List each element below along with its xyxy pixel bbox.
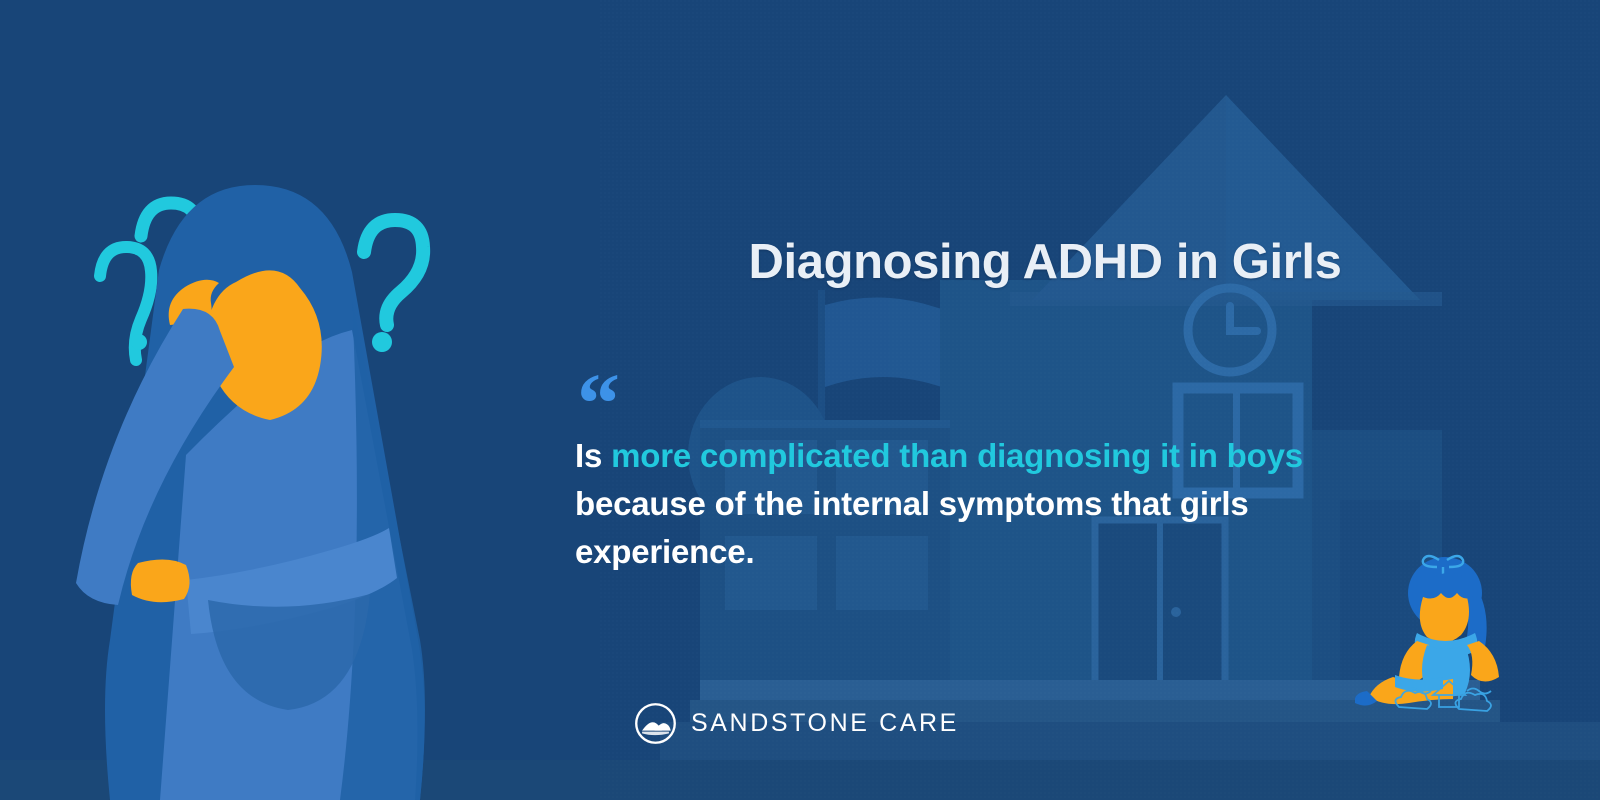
- brand-logo[interactable]: SANDSTONE CARE: [634, 702, 959, 745]
- sandstone-dunes-circle-icon: [634, 702, 677, 745]
- hand-shape: [131, 559, 190, 602]
- question-mark-dot-icon: [131, 334, 147, 350]
- woman-in-hijab-thinking-illustration: [0, 0, 470, 800]
- brand-logo-text: SANDSTONE CARE: [691, 709, 959, 738]
- page-title: Diagnosing ADHD in Girls: [595, 237, 1495, 288]
- quote-tail: because of the internal symptoms that gi…: [575, 485, 1249, 570]
- question-mark-icon: [364, 220, 423, 325]
- quote-lead: Is: [575, 437, 611, 474]
- content-column: Diagnosing ADHD in Girls “ Is more compl…: [575, 0, 1515, 800]
- poster-canvas: Diagnosing ADHD in Girls “ Is more compl…: [0, 0, 1600, 800]
- quote-highlight: more complicated than diagnosing it in b…: [611, 437, 1303, 474]
- quote-text: Is more complicated than diagnosing it i…: [575, 432, 1375, 576]
- question-mark-dot-icon: [372, 332, 392, 352]
